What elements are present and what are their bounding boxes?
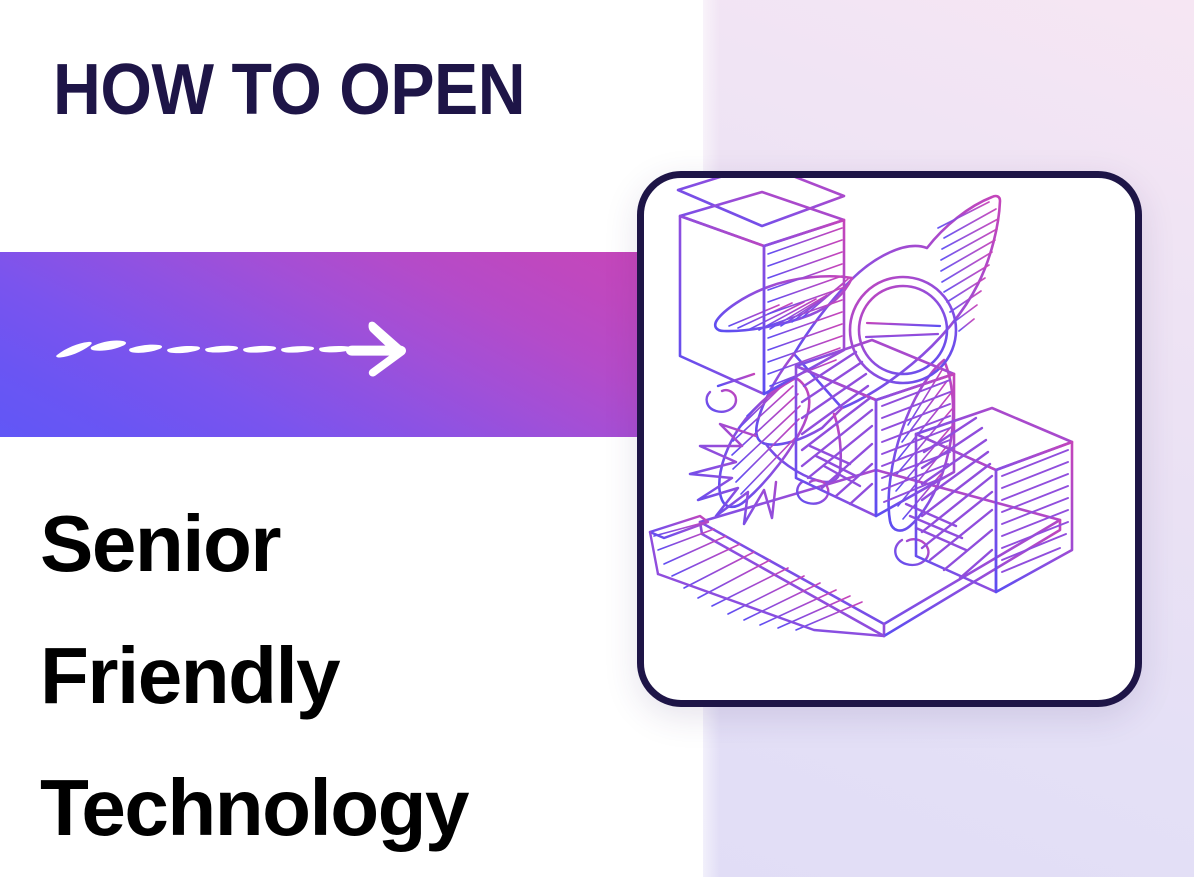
poster-canvas: HOW TO OPEN xyxy=(0,0,1194,877)
subheading-line-2: Friendly xyxy=(40,610,468,742)
illustration-card xyxy=(637,171,1142,707)
subheading-line-1: Senior xyxy=(40,478,468,610)
dashed-arrow-right-icon xyxy=(52,318,422,378)
subheading: Senior Friendly Technology xyxy=(40,478,468,874)
subheading-line-3: Technology xyxy=(40,742,468,874)
rocket-and-bar-chart-sketch xyxy=(644,178,1135,700)
page-title: HOW TO OPEN xyxy=(53,54,605,126)
